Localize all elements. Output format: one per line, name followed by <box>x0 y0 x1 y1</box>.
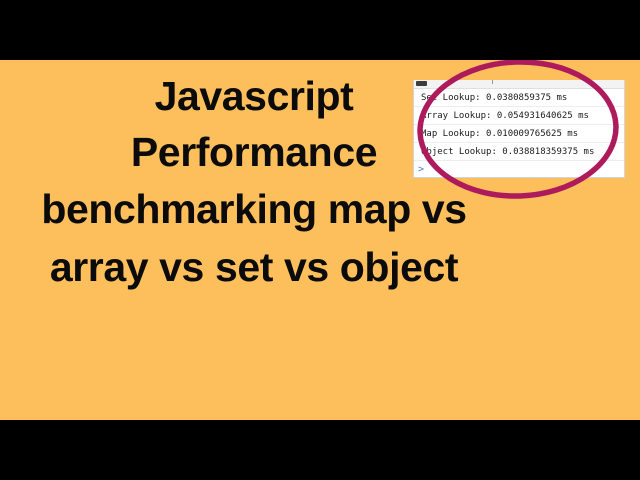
console-log-list: Set Lookup: 0.0380859375 ms Array Lookup… <box>414 89 624 161</box>
devtools-console-panel[interactable]: Set Lookup: 0.0380859375 ms Array Lookup… <box>413 80 625 178</box>
title-line-3: benchmarking map vs <box>0 180 508 238</box>
menu-icon[interactable] <box>416 81 427 86</box>
slide-stage: Javascript Performance benchmarking map … <box>0 60 640 420</box>
chevron-right-icon: > <box>418 164 424 175</box>
console-log-row: Set Lookup: 0.0380859375 ms <box>414 89 624 107</box>
toolbar-divider <box>492 80 493 84</box>
video-frame: Javascript Performance benchmarking map … <box>0 0 640 480</box>
letterbox-bar-top <box>0 0 640 60</box>
title-line-4: array vs set vs object <box>0 238 508 296</box>
console-log-row: Map Lookup: 0.010009765625 ms <box>414 125 624 143</box>
console-log-row: Array Lookup: 0.054931640625 ms <box>414 107 624 125</box>
console-log-row: Object Lookup: 0.038818359375 ms <box>414 143 624 161</box>
console-prompt-row[interactable]: > <box>414 161 624 175</box>
letterbox-bar-bottom <box>0 420 640 480</box>
console-toolbar[interactable] <box>414 80 624 89</box>
